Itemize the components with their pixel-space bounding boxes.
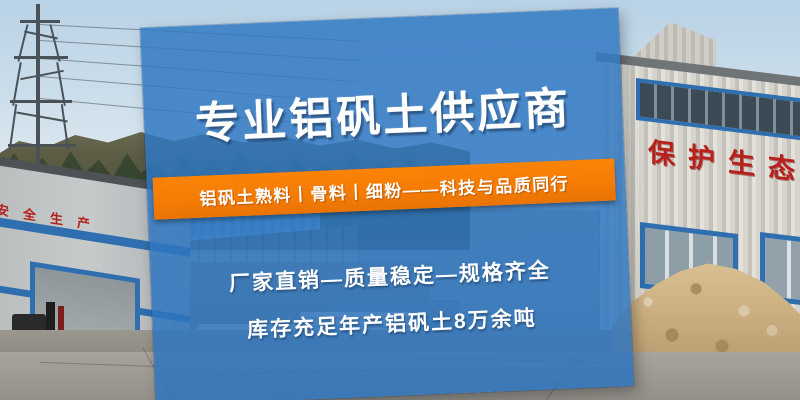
subline-one: 厂家直销—质量稳定—规格齐全 [150,251,629,301]
banner-content: 专业铝矾土供应商 铝矾土熟料丨骨料丨细粉——科技与品质同行 厂家直销—质量稳定—… [140,8,633,400]
orange-ribbon: 铝矾土熟料丨骨料丨细粉——科技与品质同行 [153,158,616,219]
ribbon-label: 铝矾土熟料丨骨料丨细粉——科技与品质同行 [199,169,570,209]
banner-image: 安全生产 保护生态 [0,0,800,400]
headline-text: 专业铝矾土供应商 [143,70,623,154]
pavement-crack [40,362,160,367]
subline-two: 库存充足年产铝矾土8万余吨 [152,298,631,348]
